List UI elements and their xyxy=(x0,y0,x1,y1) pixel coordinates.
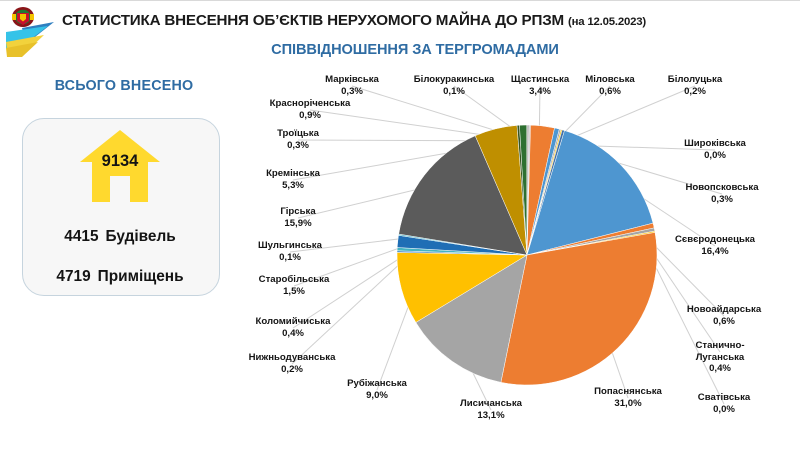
pie-label-milovska: Міловська 0,6% xyxy=(576,74,644,97)
pie-label-starobilska: Старобільська 1,5% xyxy=(252,274,336,297)
stat-buildings-label: Будівель xyxy=(106,228,176,245)
pie-label-shulhynska: Шульгинська 0,1% xyxy=(246,240,334,263)
pie-label-hirska: Гірська 15,9% xyxy=(264,206,332,229)
pie-label-bilolutska: Білолуцька 0,2% xyxy=(660,74,730,97)
pie-label-krasnorichenska: Красноріченська 0,9% xyxy=(258,98,362,121)
stat-buildings: 4415Будівель xyxy=(22,228,218,246)
stat-buildings-value: 4415 xyxy=(64,228,98,245)
slide: СТАТИСТИКА ВНЕСЕННЯ ОБ’ЄКТІВ НЕРУХОМОГО … xyxy=(0,0,800,449)
page-title-main: СТАТИСТИКА ВНЕСЕННЯ ОБ’ЄКТІВ НЕРУХОМОГО … xyxy=(62,12,564,29)
pie-label-popasnianska: Попаснянська 31,0% xyxy=(580,386,676,409)
pie-label-sievierodonetska: Сєвєродонецька 16,4% xyxy=(664,234,766,257)
pie-label-novoaidarska: Новоайдарська 0,6% xyxy=(678,304,770,327)
page-subtitle: СПІВВІДНОШЕННЯ ЗА ТЕРГРОМАДАМИ xyxy=(62,42,768,58)
pie-label-novopskovska: Новопсковська 0,3% xyxy=(674,182,770,205)
pie-label-lysychanska: Лисичанська 13,1% xyxy=(448,398,534,421)
pie-label-kolomyichyska: Коломийчиська 0,4% xyxy=(244,316,342,339)
summary-panel-title: ВСЬОГО ВНЕСЕНО xyxy=(16,78,232,94)
pie-label-shyrokivska: Широківська 0,0% xyxy=(676,138,754,161)
pie-label-svativska: Сватівська 0,0% xyxy=(688,392,760,415)
pie-label-bilokurakynska: Білокуракинська 0,1% xyxy=(404,74,504,97)
emblem-flag-logo xyxy=(4,4,56,58)
pie-label-nyzhnoduvanska: Нижньодуванська 0,2% xyxy=(240,352,344,375)
stat-premises-value: 4719 xyxy=(56,268,90,285)
pie-label-rubizhanska: Рубіжанська 9,0% xyxy=(336,378,418,401)
pie-label-shchastynska: Щастинська 3,4% xyxy=(500,74,580,97)
pie-label-markivska: Марківська 0,3% xyxy=(310,74,394,97)
header-divider xyxy=(0,0,800,1)
page-title-date: (на 12.05.2023) xyxy=(568,16,646,28)
pie-leader-line xyxy=(292,252,413,364)
pie-label-stanychno-luhanska: Станично- Луганська 0,4% xyxy=(680,340,760,375)
stat-premises: 4719Приміщень xyxy=(22,268,218,286)
pie-label-troitska: Троїцька 0,3% xyxy=(262,128,334,151)
stat-premises-label: Приміщень xyxy=(98,268,184,285)
page-title: СТАТИСТИКА ВНЕСЕННЯ ОБ’ЄКТІВ НЕРУХОМОГО … xyxy=(62,12,782,29)
pie-label-kreminska: Кремінська 5,3% xyxy=(252,168,334,191)
total-objects-value: 9134 xyxy=(78,152,162,171)
